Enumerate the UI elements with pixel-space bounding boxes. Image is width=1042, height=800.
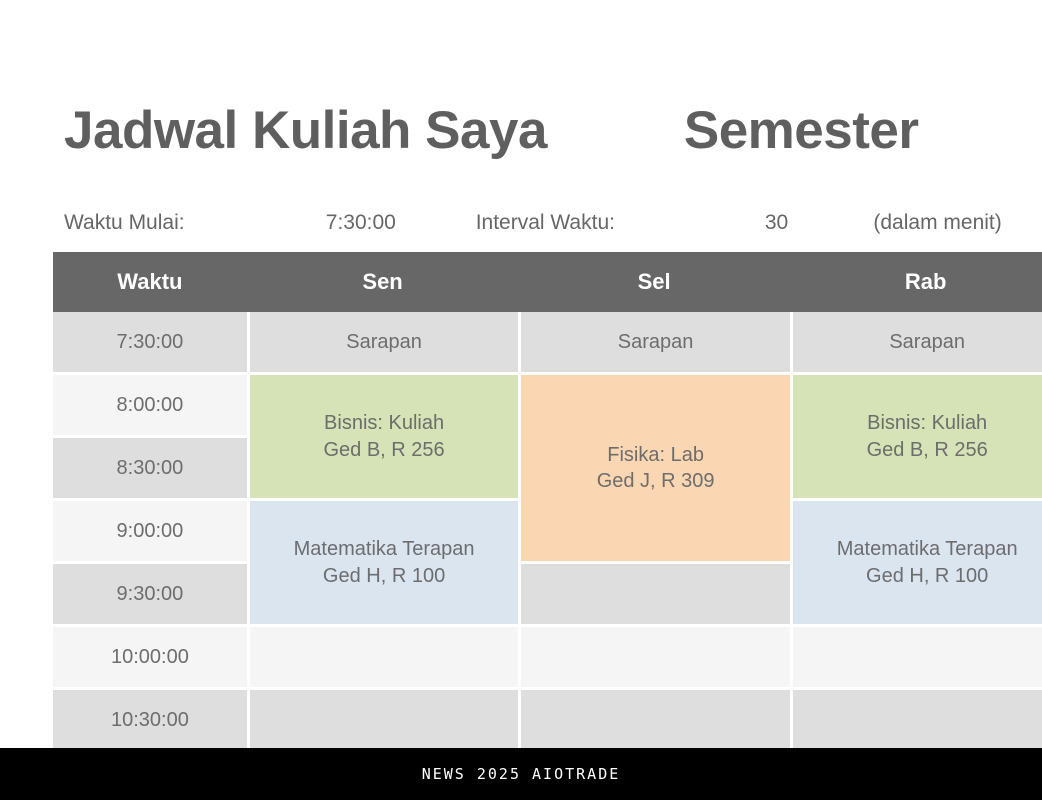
start-time-label: Waktu Mulai: <box>64 206 254 240</box>
event-cell-rab-empty[interactable] <box>790 627 1042 690</box>
event-title: Bisnis: Kuliah <box>793 410 1042 436</box>
event-title: Fisika: Lab <box>521 442 790 468</box>
interval-units-note: (dalam menit) <box>873 206 1042 240</box>
event-cell-sel-empty[interactable] <box>518 564 790 627</box>
table-header-row: Waktu Sen Sel Rab Kam <box>53 252 1042 312</box>
interval-value[interactable]: 30 <box>712 206 842 240</box>
time-label-cell: 7:30:00 <box>53 312 247 375</box>
event-cell-sen-empty[interactable] <box>247 690 519 753</box>
event-cell-rab-empty[interactable] <box>790 690 1042 753</box>
interval-label: Interval Waktu: <box>476 206 706 240</box>
time-label-cell: 8:00:00 <box>53 375 247 438</box>
event-cell-rab-breakfast[interactable]: Sarapan <box>790 312 1042 375</box>
spreadsheet-sheet: Jadwal Kuliah Saya Semester Waktu Mulai:… <box>0 0 1042 760</box>
time-label-cell: 9:30:00 <box>53 564 247 627</box>
event-location: Ged H, R 100 <box>250 563 519 589</box>
table-row: 10:30:00 <box>53 690 1042 753</box>
event-cell-sel-empty[interactable] <box>518 690 790 753</box>
column-header-sel[interactable]: Sel <box>518 252 790 312</box>
column-header-rab[interactable]: Rab <box>790 252 1042 312</box>
event-cell-rab-math[interactable]: Matematika Terapan Ged H, R 100 <box>790 501 1042 627</box>
title-main-text: Jadwal Kuliah Saya <box>64 96 547 166</box>
table-row: 7:30:00 Sarapan Sarapan Sarapan Sarapan <box>53 312 1042 375</box>
event-location: Ged J, R 309 <box>521 468 790 494</box>
time-label-cell: 10:30:00 <box>53 690 247 753</box>
event-cell-sen-empty[interactable] <box>247 627 519 690</box>
title-semester-text: Semester <box>684 96 919 166</box>
schedule-table: Waktu Sen Sel Rab Kam 7:30:00 Sarapan Sa… <box>53 252 1042 760</box>
event-location: Ged B, R 256 <box>250 437 519 463</box>
time-label-cell: 10:00:00 <box>53 627 247 690</box>
time-label-cell: 8:30:00 <box>53 438 247 501</box>
event-cell-rab-business[interactable]: Bisnis: Kuliah Ged B, R 256 <box>790 375 1042 501</box>
event-cell-sel-breakfast[interactable]: Sarapan <box>518 312 790 375</box>
watermark-bar: NEWS 2025 AIOTRADE <box>0 748 1042 800</box>
start-time-value[interactable]: 7:30:00 <box>276 206 446 240</box>
event-location: Ged B, R 256 <box>793 437 1042 463</box>
event-cell-sen-breakfast[interactable]: Sarapan <box>247 312 519 375</box>
event-location: Ged H, R 100 <box>793 563 1042 589</box>
column-header-waktu[interactable]: Waktu <box>53 252 247 312</box>
time-label-cell: 9:00:00 <box>53 501 247 564</box>
column-header-sen[interactable]: Sen <box>247 252 519 312</box>
event-cell-sel-physics[interactable]: Fisika: Lab Ged J, R 309 <box>518 375 790 564</box>
event-title: Matematika Terapan <box>793 536 1042 562</box>
event-title: Matematika Terapan <box>250 536 519 562</box>
table-row: 8:00:00 Bisnis: Kuliah Ged B, R 256 Fisi… <box>53 375 1042 438</box>
event-cell-sen-math[interactable]: Matematika Terapan Ged H, R 100 <box>247 501 519 627</box>
event-cell-sel-empty[interactable] <box>518 627 790 690</box>
watermark-text: NEWS 2025 AIOTRADE <box>422 765 621 783</box>
event-title: Bisnis: Kuliah <box>250 410 519 436</box>
table-row: 10:00:00 <box>53 627 1042 690</box>
event-cell-sen-business[interactable]: Bisnis: Kuliah Ged B, R 256 <box>247 375 519 501</box>
page-title: Jadwal Kuliah Saya Semester <box>64 96 1042 168</box>
parameter-strip: Waktu Mulai: 7:30:00 Interval Waktu: 30 … <box>0 206 1042 242</box>
